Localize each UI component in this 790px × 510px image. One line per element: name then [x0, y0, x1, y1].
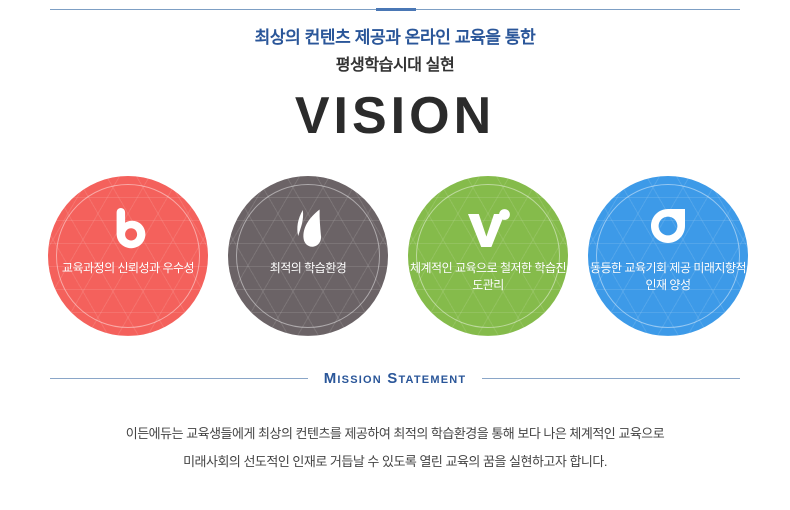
leaf-logo-icon	[288, 205, 328, 251]
lowercase-b-logo-icon	[108, 205, 148, 251]
statement-line-1: 이든에듀는 교육생들에게 최상의 컨텐츠를 제공하여 최적의 학습환경을 통해 …	[45, 420, 745, 448]
top-divider-accent	[376, 8, 416, 11]
caption-line-1: 최적의 학습환경	[270, 261, 347, 275]
headline-line-1: 최상의 컨텐츠 제공과 온라인 교육을 통한	[0, 26, 790, 50]
vision-pillar-credibility[interactable]: 교육과정의 신뢰성과 우수성	[48, 176, 208, 336]
triangle-pattern-texture	[48, 176, 208, 336]
mission-statement-divider: Mission Statement	[50, 370, 740, 387]
lowercase-v-dot-logo-icon	[465, 205, 511, 251]
vision-page: 최상의 컨텐츠 제공과 온라인 교육을 통한 평생학습시대 실현 VISION …	[0, 0, 790, 510]
caption-line-1: 교육과정의	[62, 261, 115, 275]
divider-line-left	[50, 378, 308, 379]
vision-pillars-list: 교육과정의 신뢰성과 우수성 최적의 학습환경	[48, 176, 748, 336]
vision-pillar-progress[interactable]: 체계적인 교육으로 철저한 학습진도관리	[408, 176, 568, 336]
statement-line-2: 미래사회의 선도적인 인재로 거듭날 수 있도록 열린 교육의 꿈을 실현하고자…	[45, 448, 745, 476]
caption-line-1: 체계적인 교육으로	[410, 261, 497, 275]
vision-pillar-environment[interactable]: 최적의 학습환경	[228, 176, 388, 336]
vision-pillar-caption: 최적의 학습환경	[270, 260, 347, 277]
vision-pillar-caption: 동등한 교육기회 제공 미래지향적 인재 양성	[588, 260, 748, 294]
vision-pillar-caption: 체계적인 교육으로 철저한 학습진도관리	[408, 260, 568, 294]
divider-line-right	[482, 378, 740, 379]
triangle-pattern-texture	[408, 176, 568, 336]
headline-line-2: 평생학습시대 실현	[0, 54, 790, 78]
caption-line-1: 동등한 교육기회 제공	[590, 261, 691, 275]
caption-line-2: 신뢰성과 우수성	[117, 261, 194, 275]
circle-notch-logo-icon	[648, 205, 688, 251]
triangle-pattern-texture	[588, 176, 748, 336]
mission-statement-text: 이든에듀는 교육생들에게 최상의 컨텐츠를 제공하여 최적의 학습환경을 통해 …	[45, 420, 745, 476]
mission-statement-label: Mission Statement	[308, 370, 483, 387]
vision-title: VISION	[0, 88, 790, 144]
page-headline: 최상의 컨텐츠 제공과 온라인 교육을 통한 평생학습시대 실현	[0, 26, 790, 78]
vision-pillar-caption: 교육과정의 신뢰성과 우수성	[62, 260, 194, 277]
vision-pillar-opportunity[interactable]: 동등한 교육기회 제공 미래지향적 인재 양성	[588, 176, 748, 336]
triangle-pattern-texture	[228, 176, 388, 336]
